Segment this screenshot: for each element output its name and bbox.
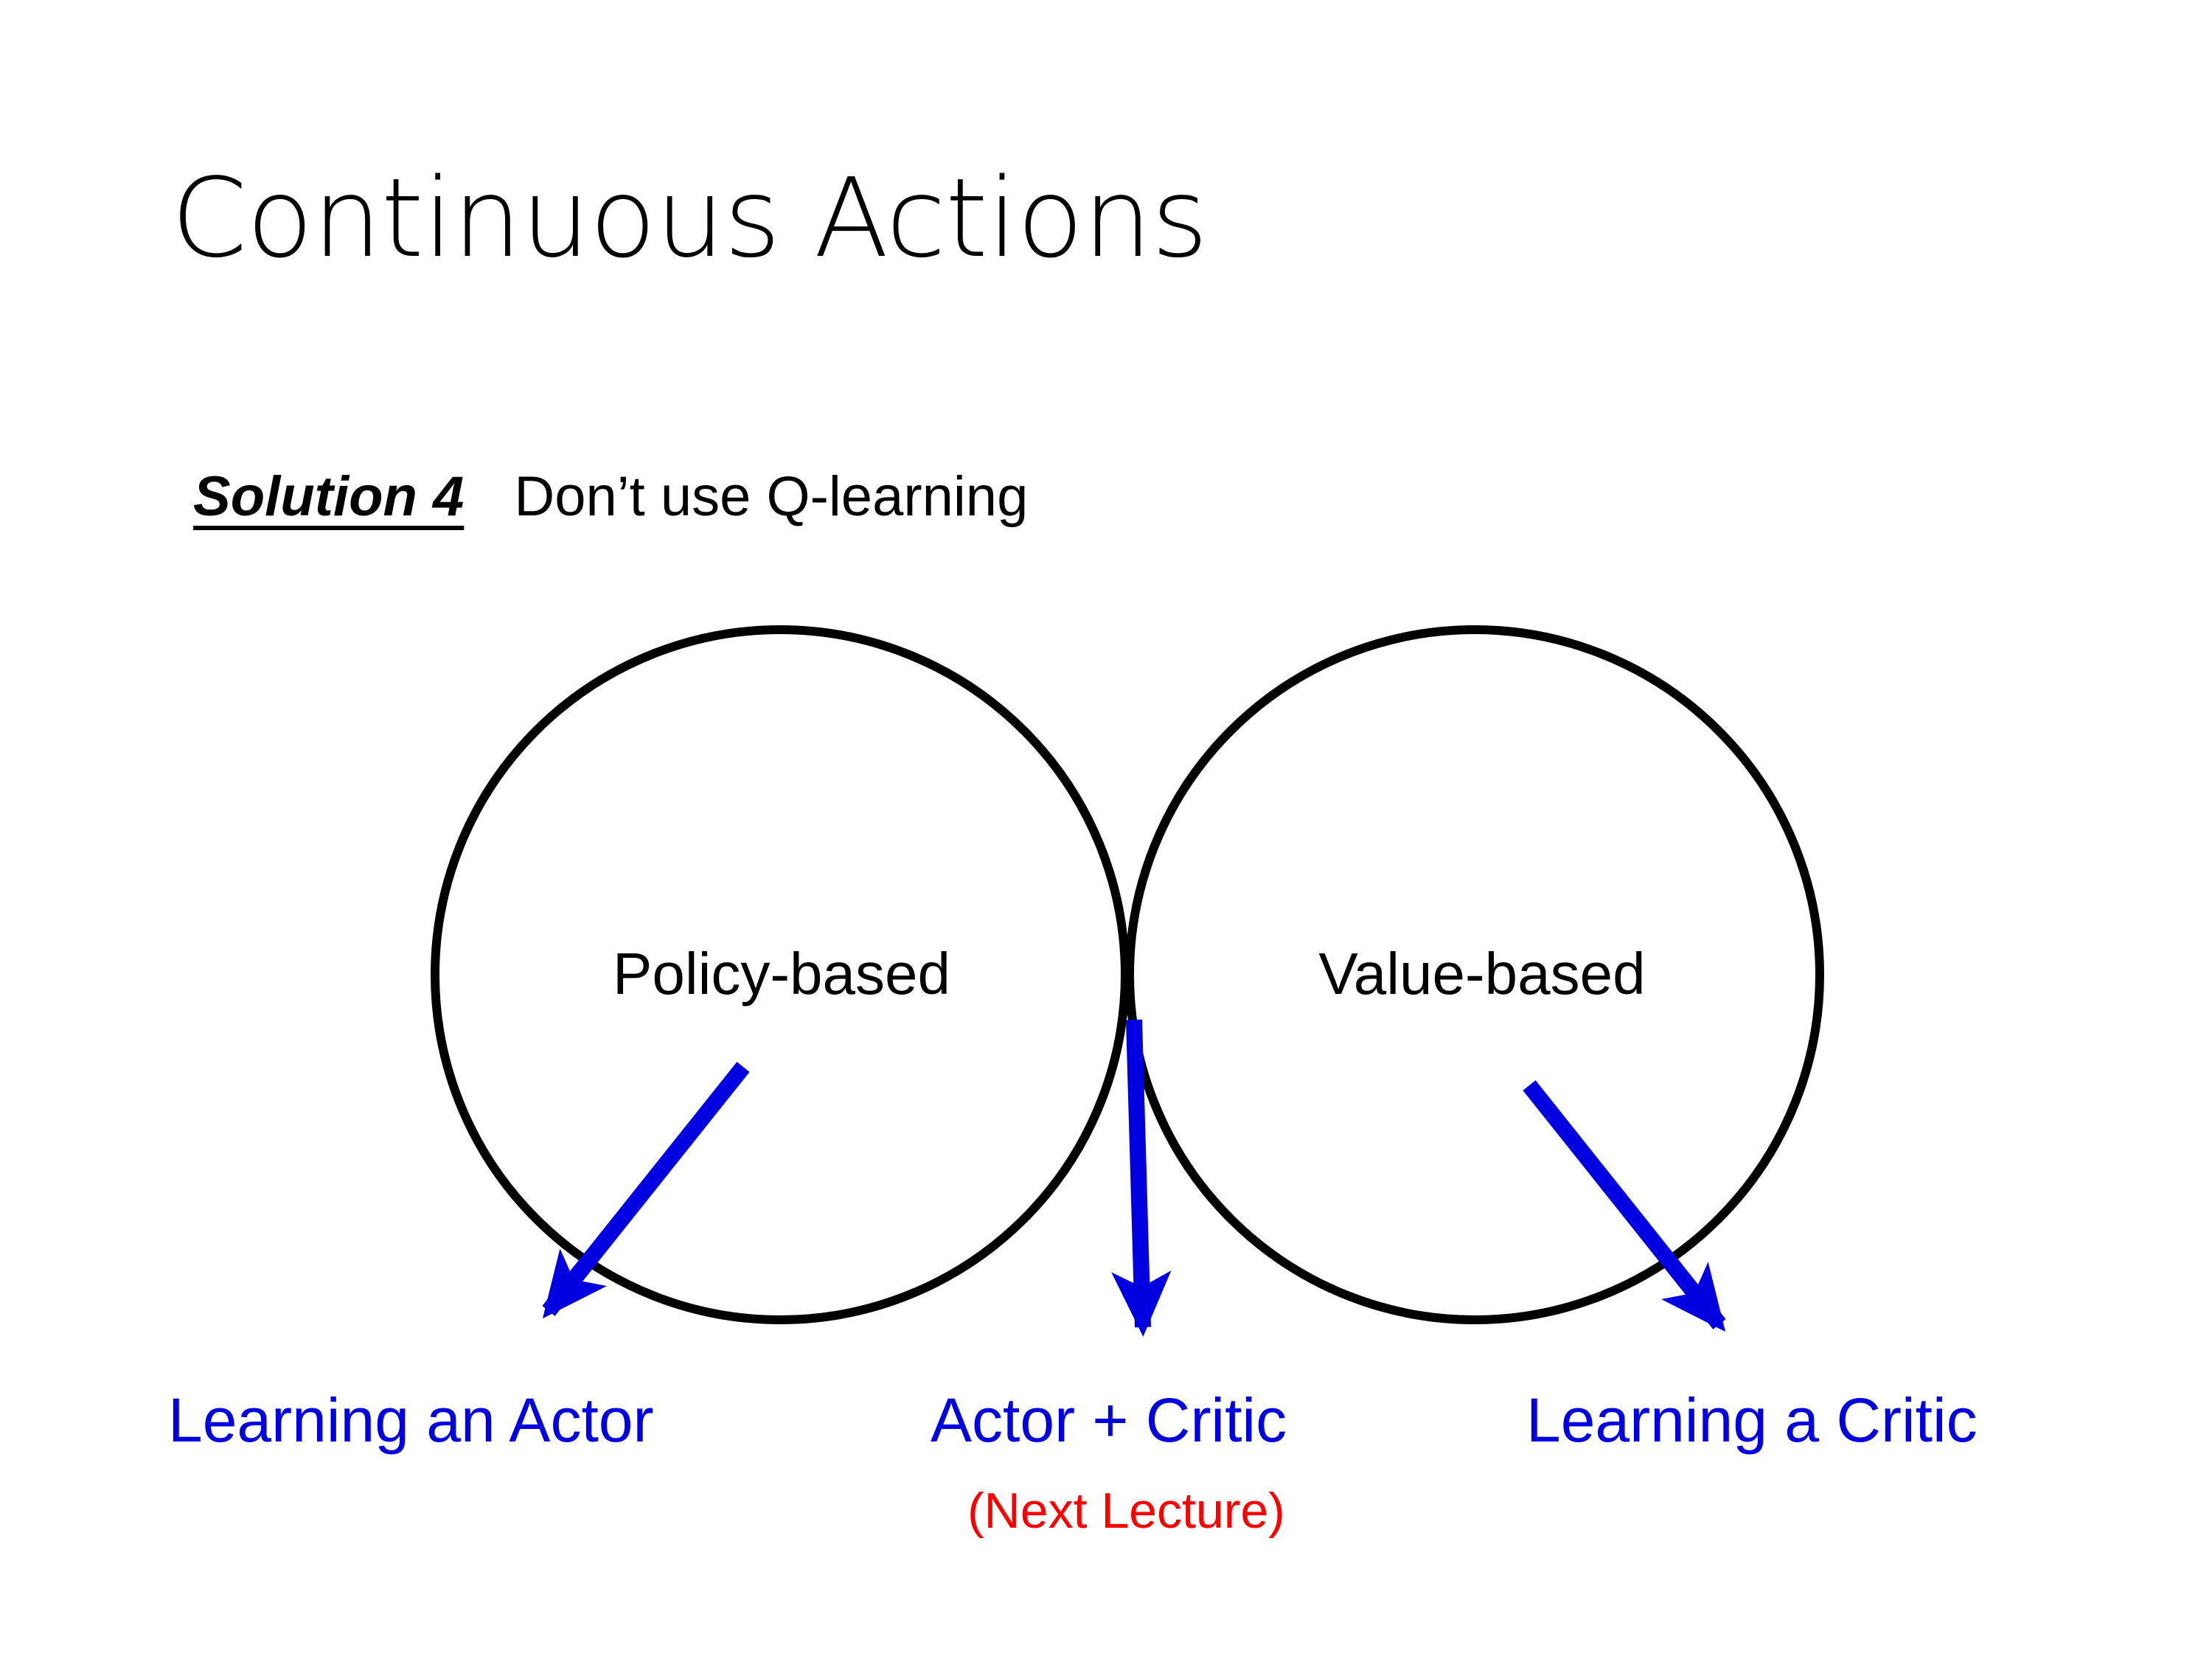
arrow-actor-plus-critic bbox=[1134, 1020, 1143, 1327]
venn-label-policy-based: Policy-based bbox=[516, 940, 1047, 1008]
slide-canvas: Continuous Actions Solution 4Don’t use Q… bbox=[0, 0, 2212, 1659]
arrow-learning-an-actor bbox=[549, 1067, 743, 1311]
annotation-sublabel-next-lecture: (Next Lecture) bbox=[967, 1482, 1285, 1540]
annotation-label-learning-an-actor: Learning an Actor bbox=[168, 1385, 653, 1456]
annotation-label-learning-a-critic: Learning a Critic bbox=[1526, 1385, 1978, 1456]
venn-label-value-based: Value-based bbox=[1217, 940, 1747, 1008]
page-title: Continuous Actions bbox=[171, 164, 1208, 273]
solution-label: Solution 4 bbox=[193, 465, 464, 528]
subtitle-row: Solution 4Don’t use Q-learning bbox=[193, 465, 1028, 529]
arrow-learning-a-critic bbox=[1529, 1085, 1719, 1324]
solution-description: Don’t use Q-learning bbox=[514, 465, 1028, 528]
annotation-label-actor-plus-critic: Actor + Critic bbox=[931, 1385, 1287, 1456]
